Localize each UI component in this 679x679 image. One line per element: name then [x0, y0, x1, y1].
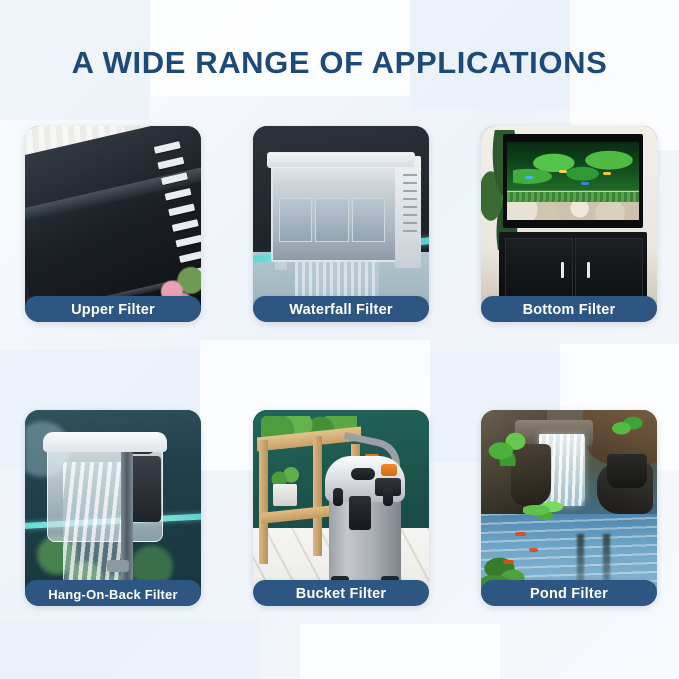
pond-filter-photo [481, 410, 657, 606]
housing-vents [403, 174, 417, 244]
filter-lid [267, 152, 415, 168]
fish [559, 170, 567, 173]
plant-left [487, 428, 533, 466]
koi-fish [529, 548, 538, 552]
shelf-leg [313, 436, 322, 556]
cabinet-handle-left [561, 262, 564, 278]
application-card-bottom-filter[interactable]: Bottom Filter [481, 126, 657, 322]
fish [603, 172, 611, 175]
card-label-bucket-filter: Bucket Filter [253, 580, 429, 606]
applications-grid: Upper Filter Waterfall Filter [25, 126, 654, 606]
koi-fish [515, 532, 526, 536]
water-lily [523, 498, 569, 520]
pipe-foot [107, 560, 129, 572]
card-label-pond-filter: Pond Filter [481, 580, 657, 606]
application-card-pond-filter[interactable]: Pond Filter [481, 410, 657, 606]
application-card-bucket-filter[interactable]: Bucket Filter [253, 410, 429, 606]
pond-filter-box [607, 454, 647, 488]
waterfall-filter-photo [253, 126, 429, 322]
hang-on-back-filter-photo [25, 410, 201, 606]
gravel-substrate [507, 202, 639, 220]
filter-lid [43, 432, 167, 452]
bg-block [300, 624, 500, 679]
front-handle-block [349, 496, 371, 530]
card-label-waterfall-filter: Waterfall Filter [253, 296, 429, 322]
page-title: A WIDE RANGE OF APPLICATIONS [0, 44, 679, 82]
upper-filter-photo [25, 126, 201, 322]
aquatic-plants [513, 144, 633, 198]
shelf-leg [259, 440, 268, 564]
bg-block [0, 620, 260, 679]
bottom-filter-photo [481, 126, 657, 322]
plant-top-right [607, 414, 643, 440]
pump-motor [129, 456, 161, 522]
aquarium-interior [507, 142, 639, 220]
fish [581, 182, 589, 185]
control-dial [351, 468, 375, 480]
card-label-hang-on-back-filter: Hang-On-Back Filter [25, 580, 201, 606]
cabinet-handle-right [587, 262, 590, 278]
orange-knob [381, 464, 397, 476]
koi-fish [503, 560, 514, 564]
card-label-upper-filter: Upper Filter [25, 296, 201, 322]
application-card-upper-filter[interactable]: Upper Filter [25, 126, 201, 322]
card-label-bottom-filter: Bottom Filter [481, 296, 657, 322]
fish [525, 176, 533, 179]
bucket-filter-photo [253, 410, 429, 606]
latch-clamp [383, 488, 393, 506]
filter-media-cells [279, 198, 385, 242]
plant-pot [273, 484, 297, 506]
application-card-waterfall-filter[interactable]: Waterfall Filter [253, 126, 429, 322]
application-card-hang-on-back-filter[interactable]: Hang-On-Back Filter [25, 410, 201, 606]
latch-clamp [333, 488, 343, 506]
